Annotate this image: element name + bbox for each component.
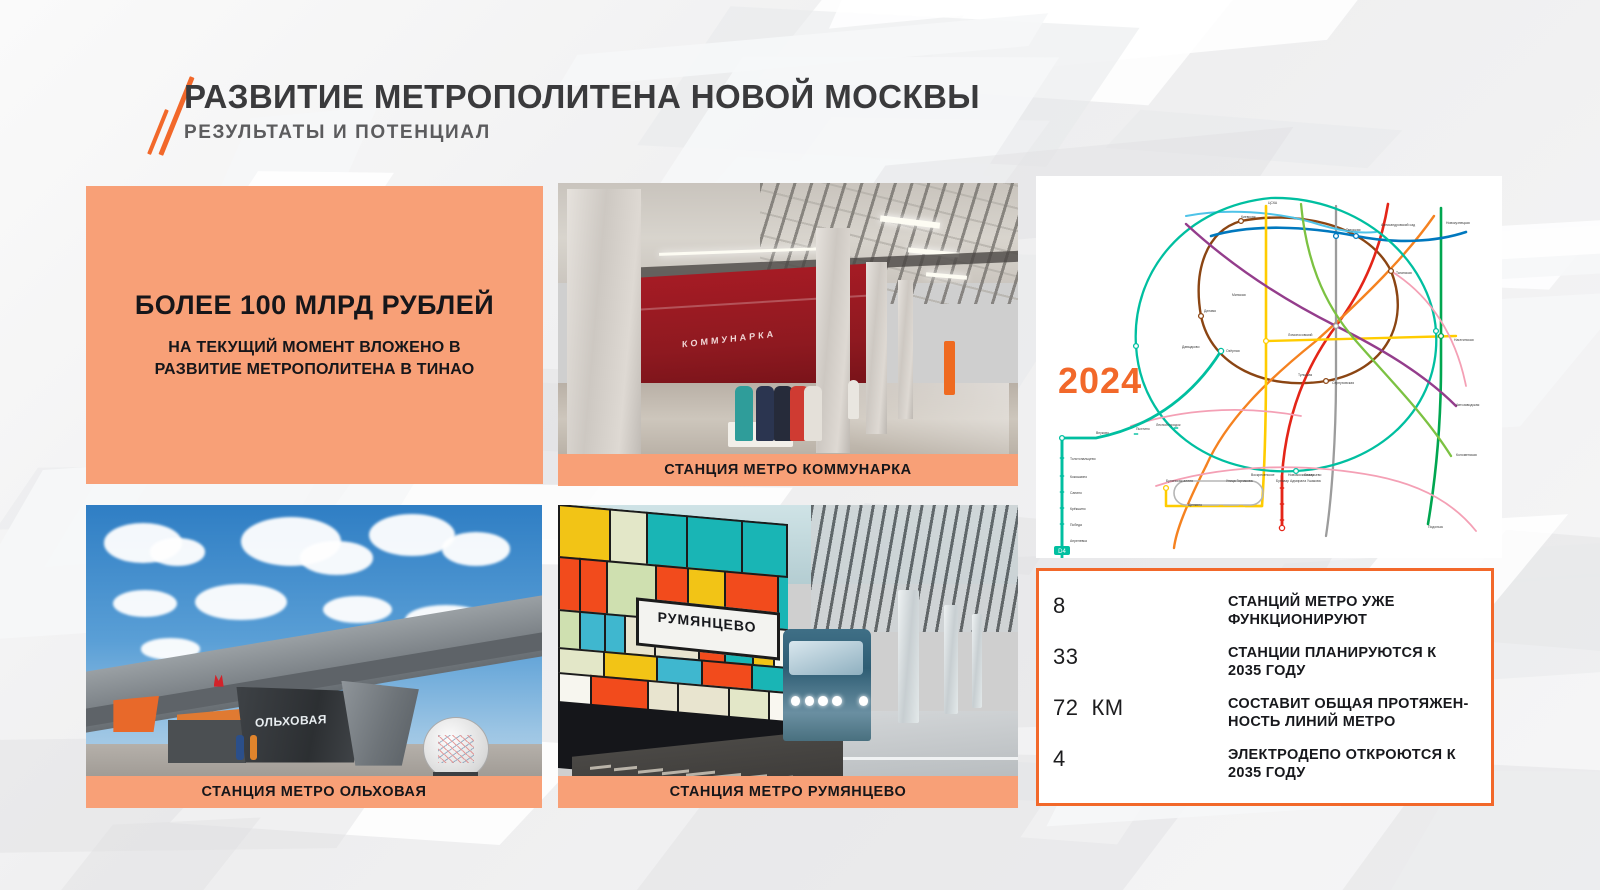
metro-station <box>1279 525 1284 530</box>
metro-station-label: Улица Горчакова <box>1226 479 1253 483</box>
page-subtitle: РЕЗУЛЬТАТЫ И ПОТЕНЦИАЛ <box>184 122 491 144</box>
page-title: РАЗВИТИЕ МЕТРОПОЛИТЕНА НОВОЙ МОСКВЫ <box>184 78 980 116</box>
stat-row: 72КМСОСТАВИТ ОБЩАЯ ПРОТЯЖЕН-НОСТЬ ЛИНИЙ … <box>1039 695 1491 746</box>
stat-description-line1: СТАНЦИЙ МЕТРО УЖЕ <box>1228 593 1395 611</box>
stat-row: 33СТАНЦИИ ПЛАНИРУЮТСЯ К2035 ГОДУ <box>1039 644 1491 695</box>
stat-description: СОСТАВИТ ОБЩАЯ ПРОТЯЖЕН-НОСТЬ ЛИНИЙ МЕТР… <box>1228 695 1469 731</box>
metro-station-label: Санино <box>1070 491 1082 495</box>
investment-highlight-box: БОЛЕЕ 100 МЛРД РУБЛЕЙ НА ТЕКУЩИЙ МОМЕНТ … <box>86 186 543 484</box>
stat-description-line1: СТАНЦИИ ПЛАНИРУЮТСЯ К <box>1228 644 1436 662</box>
metro-station <box>1324 379 1329 384</box>
metro-line <box>1391 271 1466 386</box>
metro-station-label: Киевская <box>1241 215 1256 219</box>
metro-station-label: Бунинская аллея <box>1166 479 1193 483</box>
photo-rumyantsevo: РУМЯНЦЕВО СТАНЦИЯ МЕТРО РУМЯНЦЕВО <box>558 505 1018 808</box>
metro-station-label: Нагатинская <box>1454 338 1474 342</box>
statistics-table: 8СТАНЦИЙ МЕТРО УЖЕФУНКЦИОНИРУЮТ33СТАНЦИИ… <box>1036 568 1494 806</box>
metro-station <box>1334 324 1339 329</box>
investment-description: НА ТЕКУЩИЙ МОМЕНТ ВЛОЖЕНО В РАЗВИТИЕ МЕТ… <box>155 337 475 380</box>
metro-station-label: Новокузнецкая <box>1446 221 1470 225</box>
metro-station-label: Коломенская <box>1456 453 1477 457</box>
stat-unit: КМ <box>1091 695 1123 720</box>
stat-description-line2: НОСТЬ ЛИНИЙ МЕТРО <box>1228 713 1469 731</box>
metro-station <box>1434 329 1439 334</box>
metro-station-label: Кокошкино <box>1070 475 1087 479</box>
metro-line <box>1199 218 1398 384</box>
investment-headline: БОЛЕЕ 100 МЛРД РУБЛЕЙ <box>135 290 494 321</box>
stat-number: 33 <box>1053 644 1228 670</box>
map-year-label: 2024 <box>1058 360 1142 402</box>
photo-kommunarka: КОММУНАРКА СТАНЦИЯ МЕТРО КОММУНАРКА <box>558 183 1018 486</box>
metro-station-label: Щепкино <box>1188 503 1202 507</box>
metro-station <box>1134 344 1139 349</box>
kommunarka-station-image: КОММУНАРКА <box>558 183 1018 486</box>
stat-description-line1: СОСТАВИТ ОБЩАЯ ПРОТЯЖЕН- <box>1228 695 1469 713</box>
metro-station-label: Саларьево <box>1304 473 1322 477</box>
stat-row: 8СТАНЦИЙ МЕТРО УЖЕФУНКЦИОНИРУЮТ <box>1039 593 1491 644</box>
map-terminus-label: D4 <box>1058 549 1066 555</box>
metro-station-label: Тульская <box>1298 373 1312 377</box>
metro-station-label: ЦСКА <box>1268 201 1278 205</box>
metro-line <box>1174 481 1263 505</box>
stat-description: ЭЛЕКТРОДЕПО ОТКРОЮТСЯ К2035 ГОДУ <box>1228 746 1456 782</box>
metro-station <box>1389 269 1394 274</box>
rumyantsevo-station-image: РУМЯНЦЕВО <box>558 505 1018 808</box>
metro-station <box>1264 339 1269 344</box>
stat-description-line1: ЭЛЕКТРОДЕПО ОТКРОЮТСЯ К <box>1228 746 1456 764</box>
metro-station <box>1164 486 1169 491</box>
stat-description-line2: 2035 ГОДУ <box>1228 662 1436 680</box>
metro-station-label: Крёкшино <box>1070 507 1086 511</box>
metro-station <box>1218 348 1223 353</box>
metro-station <box>1439 334 1444 339</box>
metro-station-label: Апрелевка <box>1070 539 1087 543</box>
olkhovaya-station-image: ОЛЬХОВАЯ <box>86 505 542 808</box>
metro-station-label: Бульвар Адмирала Ушакова <box>1276 479 1321 483</box>
photo-caption-kommunarka: СТАНЦИЯ МЕТРО КОММУНАРКА <box>558 454 1018 486</box>
metro-station <box>1060 436 1065 441</box>
stat-number: 4 <box>1053 746 1228 772</box>
metro-station-label: Внуково <box>1096 431 1109 435</box>
metro-station-label: Подольск <box>1428 525 1443 529</box>
stat-row: 4ЭЛЕКТРОДЕПО ОТКРОЮТСЯ К2035 ГОДУ <box>1039 746 1491 797</box>
metro-line <box>1326 206 1336 536</box>
metro-station-label: Автозаводская <box>1456 403 1479 407</box>
photo-olkhovaya: ОЛЬХОВАЯ СТАНЦИЯ МЕТРО ОЛЬХОВАЯ <box>86 505 542 808</box>
metro-station-label: Александровский сад <box>1381 223 1415 227</box>
metro-station-label: Серпуховская <box>1332 381 1354 385</box>
metro-line <box>1186 224 1456 406</box>
metro-station-label: Толстопальцево <box>1070 457 1096 461</box>
slide-canvas: РАЗВИТИЕ МЕТРОПОЛИТЕНА НОВОЙ МОСКВЫ РЕЗУ… <box>0 0 1600 890</box>
metro-station <box>1199 314 1204 319</box>
metro-station-label: Ломоносовский <box>1288 333 1313 337</box>
investment-description-line1: НА ТЕКУЩИЙ МОМЕНТ ВЛОЖЕНО В <box>155 337 475 359</box>
metro-line <box>1246 206 1266 506</box>
stat-description-line2: ФУНКЦИОНИРУЮТ <box>1228 611 1395 629</box>
metro-station-label: Озёрная <box>1226 349 1240 353</box>
metro-station <box>1334 234 1339 239</box>
metro-station-label: Победа <box>1070 523 1082 527</box>
metro-station-label: Динамо <box>1204 309 1216 313</box>
stat-description-line2: 2035 ГОДУ <box>1228 764 1456 782</box>
metro-station-label: Давыдково <box>1182 345 1200 349</box>
stat-description: СТАНЦИИ ПЛАНИРУЮТСЯ К2035 ГОДУ <box>1228 644 1436 680</box>
photo-caption-olkhovaya: СТАНЦИЯ МЕТРО ОЛЬХОВАЯ <box>86 776 542 808</box>
metro-station-label: Пыхтино <box>1136 427 1150 431</box>
stat-number: 72КМ <box>1053 695 1228 721</box>
stat-description: СТАНЦИЙ МЕТРО УЖЕФУНКЦИОНИРУЮТ <box>1228 593 1395 629</box>
metro-station <box>1354 234 1359 239</box>
metro-station-label: Лесной городок <box>1156 423 1181 427</box>
metro-station <box>1239 219 1244 224</box>
metro-station-label: Тверская <box>1346 228 1361 232</box>
metro-station-label: Воскресенское <box>1251 473 1275 477</box>
stat-number: 8 <box>1053 593 1228 619</box>
metro-station-label: Минская <box>1232 293 1246 297</box>
metro-station-label: Таганская <box>1396 271 1412 275</box>
metro-line <box>1301 204 1451 456</box>
kommunarka-platform-sign: КОММУНАРКА <box>683 329 777 350</box>
investment-description-line2: РАЗВИТИЕ МЕТРОПОЛИТЕНА В ТИНАО <box>155 359 475 381</box>
slide-header: РАЗВИТИЕ МЕТРОПОЛИТЕНА НОВОЙ МОСКВЫ РЕЗУ… <box>86 62 1086 162</box>
photo-caption-rumyantsevo: СТАНЦИЯ МЕТРО РУМЯНЦЕВО <box>558 776 1018 808</box>
